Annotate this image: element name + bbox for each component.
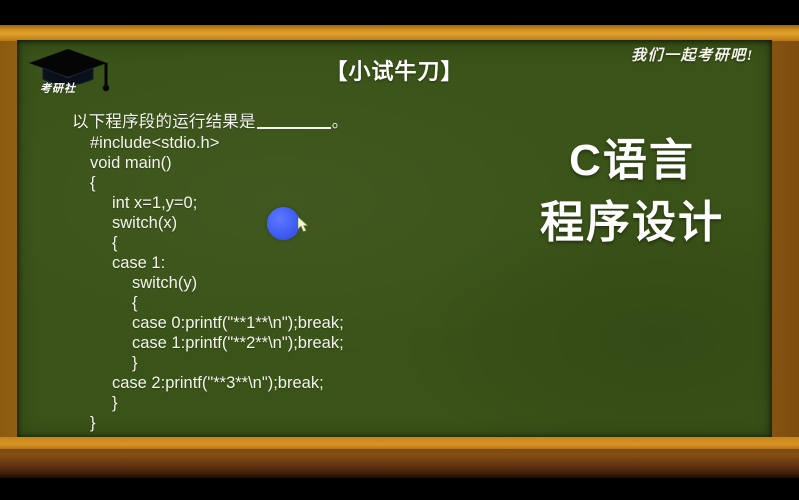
code-line: switch(y)	[72, 273, 492, 293]
answer-blank	[257, 127, 331, 129]
slide-stage: 考研社 我们一起考研吧! 【小试牛刀】 以下程序段的运行结果是。 #includ…	[0, 0, 799, 500]
code-line: }	[72, 413, 492, 433]
code-line: case 2:printf("**3**\n");break;	[72, 373, 492, 393]
code-line: }	[72, 393, 492, 413]
chalkboard: 考研社 我们一起考研吧! 【小试牛刀】 以下程序段的运行结果是。 #includ…	[17, 40, 772, 437]
question-suffix: 。	[332, 113, 349, 131]
letterbox-top	[0, 0, 799, 25]
code-line: }	[72, 353, 492, 373]
course-title: C语言 程序设计	[497, 130, 767, 254]
slide-headline: 【小试牛刀】	[17, 54, 772, 86]
course-title-line2: 程序设计	[497, 192, 767, 254]
code-line: {	[72, 293, 492, 313]
code-line: case 1:	[72, 253, 492, 273]
course-title-line1: C语言	[497, 130, 767, 192]
code-line: #include<stdio.h>	[72, 133, 492, 153]
frame-top-highlight	[0, 25, 799, 41]
code-line: case 1:printf("**2**\n");break;	[72, 333, 492, 353]
code-line: {	[72, 173, 492, 193]
mouse-cursor-icon	[298, 217, 310, 233]
blue-pointer-dot	[267, 207, 300, 240]
question-prefix: 以下程序段的运行结果是	[72, 113, 256, 131]
ledge-shadow	[0, 449, 799, 457]
letterbox-bottom	[0, 478, 799, 500]
code-line: void main()	[72, 153, 492, 173]
code-block: #include<stdio.h>void main(){int x=1,y=0…	[72, 133, 492, 433]
code-line: case 0:printf("**1**\n");break;	[72, 313, 492, 333]
chalk-ledge	[0, 437, 799, 478]
question-text: 以下程序段的运行结果是。	[72, 108, 348, 132]
